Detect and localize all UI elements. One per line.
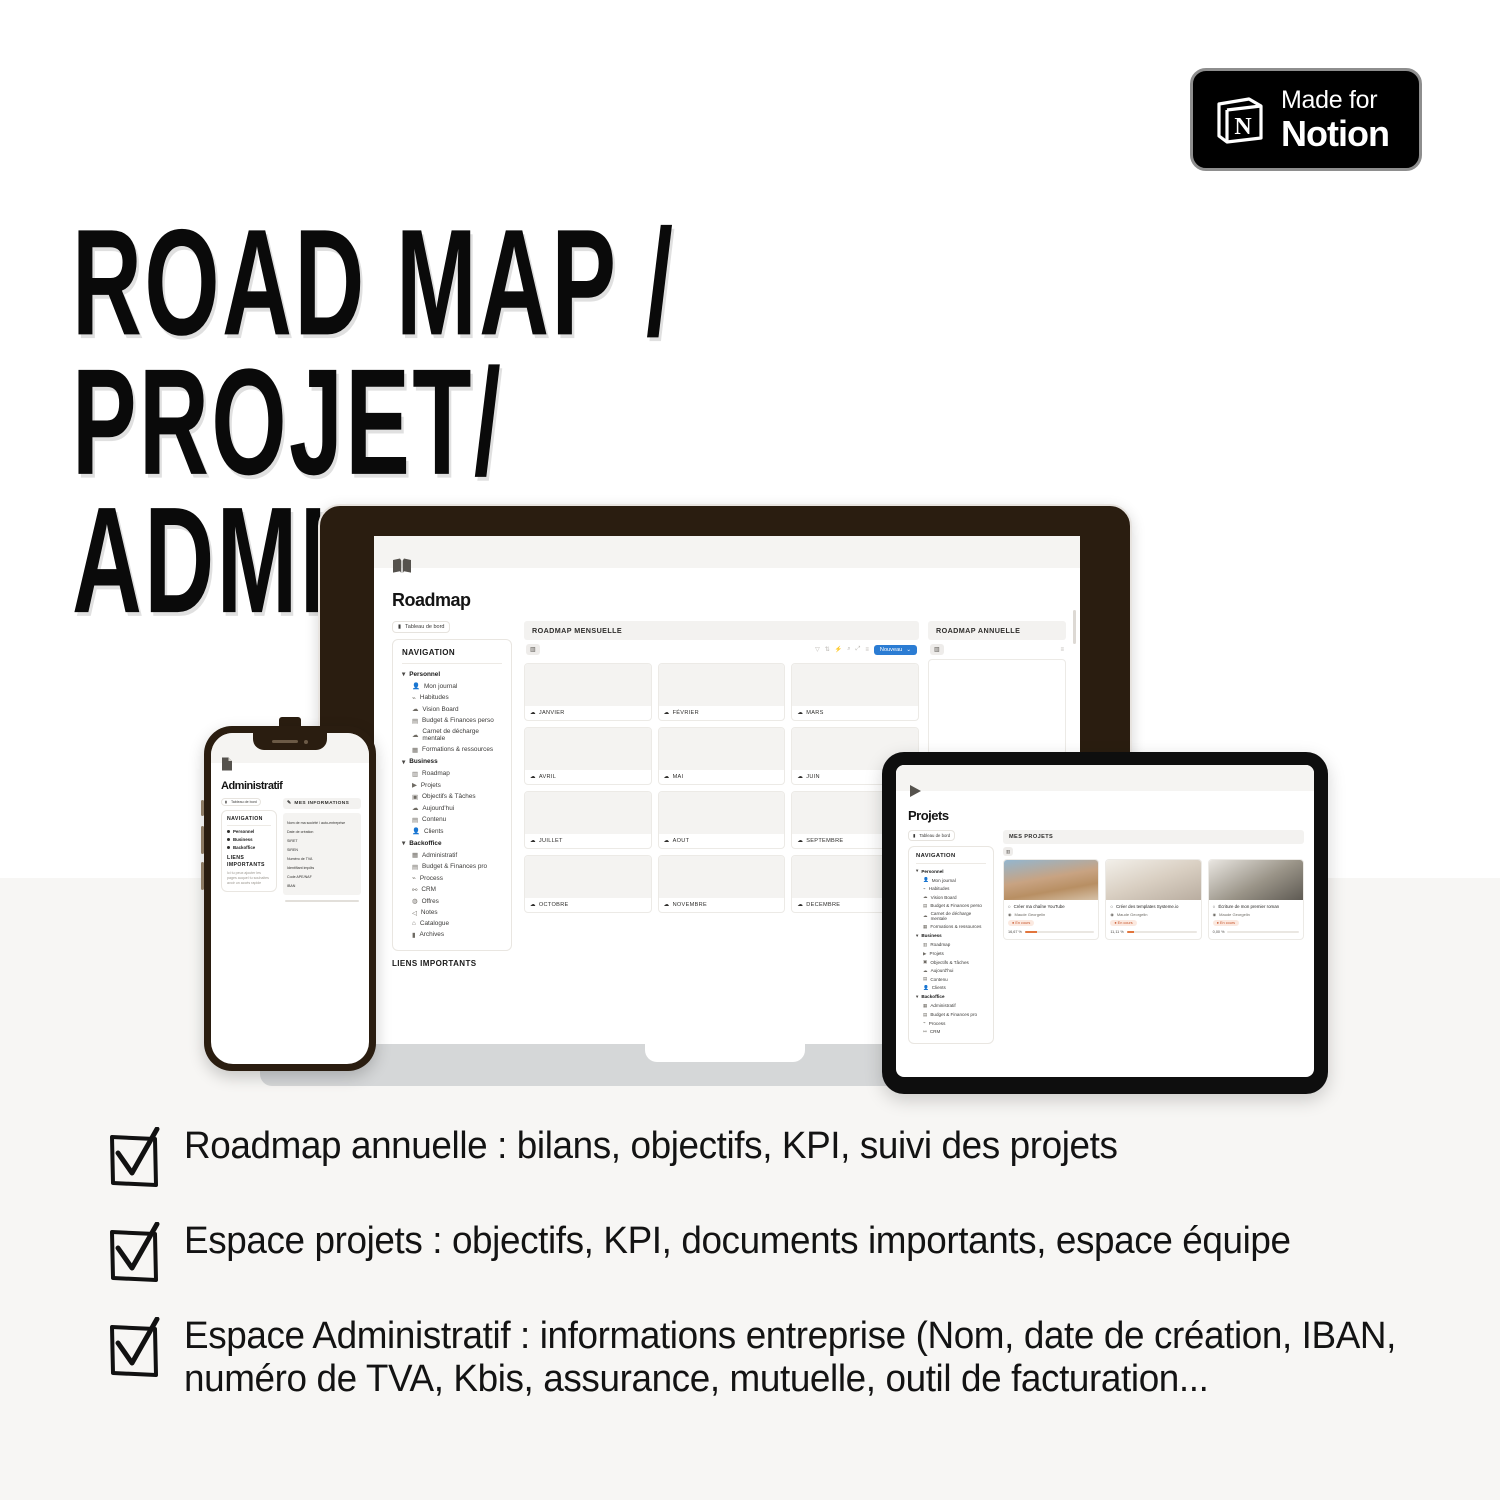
month-card-label: ☁FÉVRIER (659, 706, 785, 720)
project-card[interactable]: ○Écriture de mon premier roman◉Maude Geo… (1208, 859, 1304, 940)
progress-bar (1227, 931, 1299, 933)
triangle-down-icon: ▾ (916, 994, 918, 1000)
month-card-cover (525, 728, 651, 770)
month-card-cover (525, 856, 651, 898)
navigation-panel: NAVIGATION PersonnelBusinessBackoffice L… (221, 810, 277, 892)
sidebar-item-personnel[interactable]: Personnel (227, 829, 271, 834)
triangle-down-icon: ▾ (916, 933, 918, 939)
options-icon[interactable]: ≡ (865, 647, 869, 653)
month-card-cover (525, 664, 651, 706)
made-for-notion-badge: N Made for Notion (1190, 68, 1422, 171)
search-icon[interactable]: ⌕ (847, 646, 850, 653)
navigation-panel: NAVIGATION ▾Personnel👤Mon journal⌁Habitu… (392, 639, 512, 951)
sidebar-item-label: Roadmap (930, 942, 950, 947)
sidebar-item-label: Personnel (233, 829, 254, 834)
laptop-trackpad-notch (645, 1044, 805, 1062)
calendar-icon: ▤ (412, 816, 418, 824)
month-card-cover (659, 792, 785, 834)
sidebar-item-label: Aujourd'hui (422, 805, 454, 812)
sidebar-item-objectifs-t-ches[interactable]: ▣Objectifs & Tâches (923, 959, 986, 965)
cloud-icon: ☁ (797, 902, 803, 908)
navigation-list: PersonnelBusinessBackoffice (227, 829, 271, 850)
project-card-cover (1004, 860, 1098, 900)
phone-body: Administratif ▮ Tableau de bord NAVIGATI… (204, 726, 376, 1071)
cloud-icon: ☁ (664, 710, 670, 716)
scrollbar[interactable] (1073, 610, 1076, 644)
sidebar-item-budget-finances-perso[interactable]: ▤Budget & Finances perso (412, 717, 502, 725)
tablet-body: Projets ▮ Tableau de bord NAVIGATION ▾Pe… (882, 752, 1328, 1094)
project-title: Écriture de mon premier roman (1218, 904, 1279, 909)
progress-row: 11,11 % (1110, 930, 1196, 934)
cloud-icon: ☁ (664, 902, 670, 908)
liens-importants-heading: LIENS IMPORTANTS (227, 855, 271, 868)
month-name: JUIN (806, 774, 820, 780)
month-name: SEPTEMBRE (806, 838, 843, 844)
month-card[interactable]: ☁FÉVRIER (658, 663, 786, 721)
phone-device-mockup: Administratif ▮ Tableau de bord NAVIGATI… (204, 726, 376, 1071)
month-card[interactable]: ☁AOUT (658, 791, 786, 849)
sidebar-item-label: Budget & Finances pro (422, 863, 487, 870)
information-field[interactable]: Numéro de TVA (287, 854, 357, 863)
sidebar-item-roadmap[interactable]: ▥Roadmap (412, 770, 502, 778)
cloud-icon: ☁ (412, 705, 418, 713)
new-button[interactable]: Nouveau ⌄ (874, 645, 917, 655)
map-icon: ▥ (923, 942, 927, 948)
sidebar-note: Ici tu peux ajouter les pages auquel tu … (227, 871, 271, 886)
project-card[interactable]: ○Créer des templates Systeme.io◉Maude Ge… (1105, 859, 1201, 940)
tablet-device-mockup: Projets ▮ Tableau de bord NAVIGATION ▾Pe… (882, 752, 1328, 1094)
bank-icon: ▤ (412, 717, 418, 725)
sidebar-item-contenu[interactable]: ▤Contenu (412, 816, 502, 824)
month-name: AVRIL (539, 774, 556, 780)
progress-bar (1025, 931, 1094, 933)
sidebar-item-personnel[interactable]: ▾Personnel (916, 868, 986, 874)
sidebar-item-formations-ressources[interactable]: ▦Formations & ressources (923, 924, 986, 930)
month-card[interactable]: ☁JANVIER (524, 663, 652, 721)
sidebar-item-contenu[interactable]: ▤Contenu (923, 976, 986, 982)
sidebar-item-business[interactable]: ▾Business (916, 933, 986, 939)
cloud-icon: ☁ (797, 710, 803, 716)
information-field[interactable]: IBAN (287, 881, 357, 890)
page-title: Projets (908, 808, 1314, 823)
sidebar-item-mon-journal[interactable]: 👤Mon journal (412, 682, 502, 690)
month-name: FÉVRIER (673, 710, 699, 716)
project-owner: Maude Georgelin (1015, 912, 1046, 917)
checkbox-empty-icon[interactable]: ○ (1213, 904, 1216, 909)
sidebar-item-label: Carnet de décharge mentale (931, 911, 986, 921)
sidebar-item-archives[interactable]: ▮Archives (412, 931, 502, 939)
cloud-icon: ☁ (530, 774, 536, 780)
badge-text: Made for Notion (1281, 88, 1389, 152)
month-card-cover (659, 664, 785, 706)
checklist-icon: ▣ (923, 959, 927, 965)
sidebar-item-label: Business (409, 758, 437, 765)
horizontal-scrollbar[interactable] (285, 900, 359, 902)
sidebar-item-habitudes[interactable]: ⌁Habitudes (923, 886, 986, 892)
bookmark-icon: ▮ (398, 624, 401, 630)
breadcrumb[interactable]: ▮ Tableau de bord (221, 798, 261, 806)
status-badge: ● En cours (1008, 920, 1034, 926)
cloud-icon: ☁ (412, 804, 418, 812)
sidebar-item-label: Mon journal (932, 878, 956, 883)
checkbox-checked-icon (108, 1127, 166, 1194)
title-line-1: ROAD MAP / PROJET/ (72, 199, 675, 507)
badge-line-notion: Notion (1281, 116, 1389, 152)
sidebar-item-label: Projets (930, 951, 944, 956)
branch-icon: ⌁ (923, 886, 926, 892)
books-icon: ▦ (923, 924, 927, 930)
sidebar-item-aujourd-hui[interactable]: ☁Aujourd'hui (412, 804, 502, 812)
status-badge: ● En cours (1213, 920, 1239, 926)
status-badge: ● En cours (1110, 920, 1136, 926)
sidebar-item-label: Budget & Finances perso (930, 903, 982, 908)
sidebar-item-label: Contenu (930, 977, 947, 982)
checkbox-empty-icon[interactable]: ○ (1008, 904, 1011, 909)
sidebar-item-budget-finances-perso[interactable]: ▤Budget & Finances perso (923, 903, 986, 909)
month-name: DECEMBRE (806, 902, 840, 908)
page-body: ▮ Tableau de bord NAVIGATION PersonnelBu… (211, 792, 369, 902)
branch-icon: ⌁ (412, 874, 416, 882)
bullet-dot-icon (227, 830, 230, 833)
monthly-roadmap-column: ROADMAP MENSUELLE ▥ ▽ ⇅ ⚡ ⌕ ⤢ (524, 621, 919, 968)
sidebar-item-backoffice[interactable]: Backoffice (227, 845, 271, 850)
bullet-dot-icon (227, 846, 230, 849)
sidebar-item-administratif[interactable]: ▦Administratif (923, 1003, 986, 1009)
tablet-screen: Projets ▮ Tableau de bord NAVIGATION ▾Pe… (896, 765, 1314, 1077)
sidebar-item-projets[interactable]: ▶Projets (412, 781, 502, 789)
phone-screen: Administratif ▮ Tableau de bord NAVIGATI… (211, 733, 369, 1064)
svg-text:N: N (1234, 114, 1252, 140)
sidebar-item-backoffice[interactable]: ▾Backoffice (402, 839, 502, 847)
annual-card[interactable] (928, 659, 1066, 755)
person-icon: ◉ (1008, 912, 1012, 917)
project-card-title-row: ○Créer ma chaîne YouTube (1008, 904, 1094, 909)
checklist-row: Roadmap annuelle : bilans, objectifs, KP… (108, 1125, 1438, 1194)
sidebar-item-label: Clients (932, 985, 946, 990)
triangle-down-icon: ▾ (402, 758, 405, 766)
bank-icon: ▤ (923, 1012, 927, 1018)
feature-checklist: Roadmap annuelle : bilans, objectifs, KP… (108, 1125, 1438, 1426)
sidebar-item-offres[interactable]: ◍Offres (412, 897, 502, 905)
month-card-cover (792, 664, 918, 706)
progress-bar (1127, 931, 1197, 933)
annual-toolbar: ▥ ≡ (928, 640, 1066, 659)
gallery-view-icon[interactable]: ▥ (1003, 847, 1013, 856)
navigation-header: NAVIGATION (227, 816, 271, 826)
cloud-icon: ☁ (797, 838, 803, 844)
bank-icon: ▤ (412, 863, 418, 871)
month-card[interactable]: ☁JUILLET (524, 791, 652, 849)
month-card-label: ☁MAI (659, 770, 785, 784)
sidebar-item-label: Backoffice (233, 845, 255, 850)
bookmark-icon: ▮ (913, 833, 915, 839)
sidebar-item-carnet-de-d-charge-mentale[interactable]: ☁Carnet de décharge mentale (923, 911, 986, 921)
sidebar-item-label: Business (233, 837, 253, 842)
play-triangle-icon (908, 784, 1314, 800)
books-icon: ▦ (412, 746, 418, 754)
play-icon: ▶ (412, 781, 417, 789)
page-body: ▮ Tableau de bord NAVIGATION ▾Personnel👤… (896, 823, 1314, 1044)
notion-n-logo-icon: N (1211, 92, 1267, 148)
sidebar-item-label: Carnet de décharge mentale (422, 728, 502, 742)
sidebar-item-personnel[interactable]: ▾Personnel (402, 670, 502, 678)
administratif-page: Administratif ▮ Tableau de bord NAVIGATI… (211, 733, 369, 1064)
month-name: AOUT (673, 838, 690, 844)
month-card[interactable]: ☁NOVEMBRE (658, 855, 786, 913)
person-icon: ◉ (1110, 912, 1114, 917)
sidebar-item-label: Objectifs & Tâches (422, 793, 476, 800)
information-field[interactable]: Date de création (287, 827, 357, 836)
person-add-icon: 👤 (923, 877, 929, 883)
month-card[interactable]: ☁AVRIL (524, 727, 652, 785)
sidebar-item-label: Habitudes (420, 694, 449, 701)
expand-icon[interactable]: ⤢ (856, 646, 861, 653)
sidebar-item-label: Administratif (422, 852, 457, 859)
bullet-dot-icon (227, 838, 230, 841)
month-card-label: ☁NOVEMBRE (659, 898, 785, 912)
bank-icon: ▤ (923, 903, 927, 909)
phone-notch (253, 733, 327, 750)
month-card-label: ☁MARS (792, 706, 918, 720)
lightning-icon[interactable]: ⚡ (835, 646, 842, 653)
checkbox-empty-icon[interactable]: ○ (1110, 904, 1113, 909)
information-field[interactable]: Nom de ma société / auto-entreprise (287, 818, 357, 827)
building-icon: ▦ (412, 851, 418, 859)
month-card-label: ☁OCTOBRE (525, 898, 651, 912)
sidebar-item-aujourd-hui[interactable]: ☁Aujourd'hui (923, 968, 986, 974)
sidebar-item-backoffice[interactable]: ▾Backoffice (916, 994, 986, 1000)
sidebar-item-label: Mon journal (424, 683, 457, 690)
pencil-icon: ✎ (287, 801, 291, 806)
progress-value: 16,67 % (1008, 930, 1022, 934)
cloud-icon: ☁ (923, 968, 928, 974)
month-card-label: ☁JUILLET (525, 834, 651, 848)
breadcrumb[interactable]: ▮ Tableau de bord (392, 621, 450, 633)
checkbox-checked-icon (108, 1222, 166, 1289)
chevron-down-icon: ⌄ (906, 647, 911, 653)
progress-row: 0,00 % (1213, 930, 1299, 934)
branch-icon: ⌁ (412, 694, 416, 702)
month-card-grid: ☁JANVIER☁FÉVRIER☁MARS☁AVRIL☁MAI☁JUIN☁JUI… (524, 663, 919, 913)
sidebar-item-crm[interactable]: ⚯CRM (412, 886, 502, 894)
sidebar-item-label: Backoffice (921, 994, 944, 999)
content-column: MES PROJETS ▥ ○Créer ma chaîne YouTube◉M… (1003, 830, 1304, 1044)
bulb-icon: ◍ (412, 897, 418, 905)
person-add-icon: 👤 (412, 682, 420, 690)
project-owner: Maude Georgelin (1117, 912, 1148, 917)
projets-page: Projets ▮ Tableau de bord NAVIGATION ▾Pe… (896, 765, 1314, 1077)
phone-speaker (272, 740, 298, 743)
breadcrumb-label: Tableau de bord (231, 800, 257, 804)
month-card[interactable]: ☁MARS (791, 663, 919, 721)
person-add-icon: 👤 (923, 985, 929, 991)
sidebar-item-label: Contenu (422, 816, 446, 823)
project-card-body: ○Créer des templates Systeme.io◉Maude Ge… (1106, 900, 1200, 939)
project-card-body: ○Créer ma chaîne YouTube◉Maude Georgelin… (1004, 900, 1098, 939)
sidebar-item-catalogue[interactable]: ⌂Catalogue (412, 920, 502, 927)
month-card-label: ☁JANVIER (525, 706, 651, 720)
navigation-header: NAVIGATION (402, 648, 502, 664)
sidebar-item-label: Archives (420, 931, 445, 938)
month-name: JUILLET (539, 838, 563, 844)
sidebar-item-business[interactable]: Business (227, 837, 271, 842)
cloud-icon: ☁ (664, 838, 670, 844)
play-icon: ▶ (923, 951, 927, 957)
triangle-down-icon: ▾ (402, 839, 405, 847)
sidebar-item-label: Budget & Finances perso (422, 717, 494, 724)
sidebar-item-label: Projets (421, 782, 441, 789)
section-header-monthly: ROADMAP MENSUELLE (524, 621, 919, 640)
month-name: MAI (673, 774, 684, 780)
sidebar-column: ▮ Tableau de bord NAVIGATION ▾Personnel👤… (908, 830, 994, 1044)
sidebar-item-crm[interactable]: ⚯CRM (923, 1029, 986, 1035)
sidebar-item-process[interactable]: ⌁Process (412, 874, 502, 882)
information-field[interactable]: SIRET (287, 836, 357, 845)
project-title: Créer des templates Systeme.io (1116, 904, 1178, 909)
document-icon (221, 757, 369, 773)
project-card-cover (1106, 860, 1200, 900)
sidebar-item-label: Objectifs & Tâches (930, 960, 968, 965)
sidebar-item-clients[interactable]: 👤Clients (923, 985, 986, 991)
sidebar-item-label: Administratif (930, 1003, 955, 1008)
progress-value: 11,11 % (1110, 930, 1123, 934)
cloud-icon: ☁ (530, 902, 536, 908)
sidebar-item-label: Personnel (921, 869, 943, 874)
month-card-cover (659, 728, 785, 770)
information-field[interactable]: Identifiant impôts (287, 863, 357, 872)
section-header-projects: MES PROJETS (1003, 830, 1304, 844)
sidebar-item-vision-board[interactable]: ☁Vision Board (923, 894, 986, 900)
gallery-view-icon[interactable]: ▥ (930, 644, 944, 655)
sidebar-item-label: Roadmap (422, 770, 450, 777)
month-name: MARS (806, 710, 823, 716)
information-field[interactable]: Code APE/NAF (287, 872, 357, 881)
new-button-label: Nouveau (880, 647, 902, 653)
sidebar-item-label: Catalogue (420, 920, 449, 927)
network-icon: ⚯ (412, 886, 417, 894)
breadcrumb-label: Tableau de bord (405, 624, 444, 630)
project-owner-row: ◉Maude Georgelin (1110, 912, 1196, 917)
phone-volume-up-button[interactable] (201, 826, 204, 854)
options-icon[interactable]: ≡ (1060, 647, 1064, 653)
toolbar-icon-group: ▽ ⇅ ⚡ ⌕ ⤢ ≡ Nouveau ⌄ (815, 645, 917, 655)
project-card-title-row: ○Écriture de mon premier roman (1213, 904, 1299, 909)
month-card[interactable]: ☁OCTOBRE (524, 855, 652, 913)
sidebar-item-label: Budget & Finances pro (930, 1012, 977, 1017)
checklist-row: Espace Administratif : informations entr… (108, 1315, 1438, 1400)
megaphone-icon: ◁ (412, 909, 417, 917)
navigation-list: ▾Personnel👤Mon journal⌁Habitudes☁Vision … (916, 868, 986, 1035)
sidebar-item-label: Notes (421, 909, 438, 916)
month-card-cover (659, 856, 785, 898)
sidebar-item-objectifs-t-ches[interactable]: ▣Objectifs & Tâches (412, 793, 502, 801)
project-title: Créer ma chaîne YouTube (1014, 904, 1065, 909)
cloud-refresh-icon: ☁ (412, 731, 418, 739)
calendar-icon: ▤ (923, 976, 927, 982)
breadcrumb-label: Tableau de bord (919, 833, 950, 838)
month-card-label: ☁AOUT (659, 834, 785, 848)
month-name: JANVIER (539, 710, 565, 716)
sidebar-item-habitudes[interactable]: ⌁Habitudes (412, 694, 502, 702)
branch-icon: ⌁ (923, 1020, 926, 1026)
bookmark-icon: ▮ (412, 931, 416, 939)
month-card-label: ☁AVRIL (525, 770, 651, 784)
sidebar-item-label: CRM (930, 1029, 940, 1034)
cloud-icon: ☁ (664, 774, 670, 780)
navigation-list: ▾Personnel👤Mon journal⌁Habitudes☁Vision … (402, 670, 502, 939)
building-icon: ▦ (923, 1003, 927, 1009)
month-name: OCTOBRE (539, 902, 569, 908)
cloud-icon: ☁ (923, 894, 928, 900)
sidebar-item-clients[interactable]: 👤Clients (412, 827, 502, 835)
liens-importants-heading: LIENS IMPORTANTS (392, 959, 512, 968)
checkbox-checked-icon (108, 1317, 166, 1384)
sidebar-item-formations-ressources[interactable]: ▦Formations & ressources (412, 746, 502, 754)
sidebar-item-mon-journal[interactable]: 👤Mon journal (923, 877, 986, 883)
sidebar-item-label: Formations & ressources (422, 746, 493, 753)
page-title: Roadmap (392, 590, 1080, 611)
sidebar-column: ▮ Tableau de bord NAVIGATION ▾Personnel👤… (392, 621, 512, 968)
sidebar-item-projets[interactable]: ▶Projets (923, 951, 986, 957)
network-icon: ⚯ (923, 1029, 927, 1035)
project-card-body: ○Écriture de mon premier roman◉Maude Geo… (1209, 900, 1303, 939)
section-header-informations: ✎ MES INFORMATIONS (283, 798, 361, 809)
breadcrumb[interactable]: ▮ Tableau de bord (908, 830, 955, 841)
badge-line-made-for: Made for (1281, 88, 1389, 113)
project-card[interactable]: ○Créer ma chaîne YouTube◉Maude Georgelin… (1003, 859, 1099, 940)
sidebar-item-label: Process (420, 875, 443, 882)
cloud-refresh-icon: ☁ (923, 913, 928, 919)
sidebar-item-administratif[interactable]: ▦Administratif (412, 851, 502, 859)
project-owner-row: ◉Maude Georgelin (1213, 912, 1299, 917)
project-card-cover (1209, 860, 1303, 900)
checklist-text: Espace projets : objectifs, KPI, documen… (184, 1220, 1291, 1263)
month-card-cover (525, 792, 651, 834)
sidebar-item-notes[interactable]: ◁Notes (412, 909, 502, 917)
project-owner: Maude Georgelin (1219, 912, 1250, 917)
sidebar-item-process[interactable]: ⌁Process (923, 1020, 986, 1026)
project-card-grid: ○Créer ma chaîne YouTube◉Maude Georgelin… (1003, 859, 1304, 940)
sidebar-item-roadmap[interactable]: ▥Roadmap (923, 942, 986, 948)
sidebar-item-label: Offres (422, 898, 439, 905)
phone-mute-button[interactable] (201, 800, 204, 816)
sort-icon[interactable]: ⇅ (825, 646, 830, 653)
content-column: ✎ MES INFORMATIONS Nom de ma société / a… (283, 798, 361, 902)
sidebar-item-label: Habitudes (929, 886, 950, 891)
sidebar-item-vision-board[interactable]: ☁Vision Board (412, 705, 502, 713)
sidebar-item-label: Vision Board (422, 706, 458, 713)
sidebar-item-budget-finances-pro[interactable]: ▤Budget & Finances pro (923, 1012, 986, 1018)
phone-camera (304, 740, 308, 744)
filter-icon[interactable]: ▽ (815, 646, 820, 653)
sidebar-item-label: Personnel (409, 671, 440, 678)
triangle-down-icon: ▾ (916, 868, 918, 874)
open-book-icon (392, 558, 1080, 578)
cloud-icon: ☁ (530, 710, 536, 716)
month-card[interactable]: ☁MAI (658, 727, 786, 785)
cloud-icon: ☁ (530, 838, 536, 844)
progress-row: 16,67 % (1008, 930, 1094, 934)
sidebar-item-label: Backoffice (409, 840, 441, 847)
information-field[interactable]: SIREN (287, 845, 357, 854)
phone-volume-down-button[interactable] (201, 862, 204, 890)
sidebar-item-budget-finances-pro[interactable]: ▤Budget & Finances pro (412, 863, 502, 871)
sidebar-item-carnet-de-d-charge-mentale[interactable]: ☁Carnet de décharge mentale (412, 728, 502, 742)
project-card-title-row: ○Créer des templates Systeme.io (1110, 904, 1196, 909)
gallery-view-icon[interactable]: ▥ (526, 644, 540, 655)
sidebar-item-business[interactable]: ▾Business (402, 758, 502, 766)
section-header-annual: ROADMAP ANNUELLE (928, 621, 1066, 640)
